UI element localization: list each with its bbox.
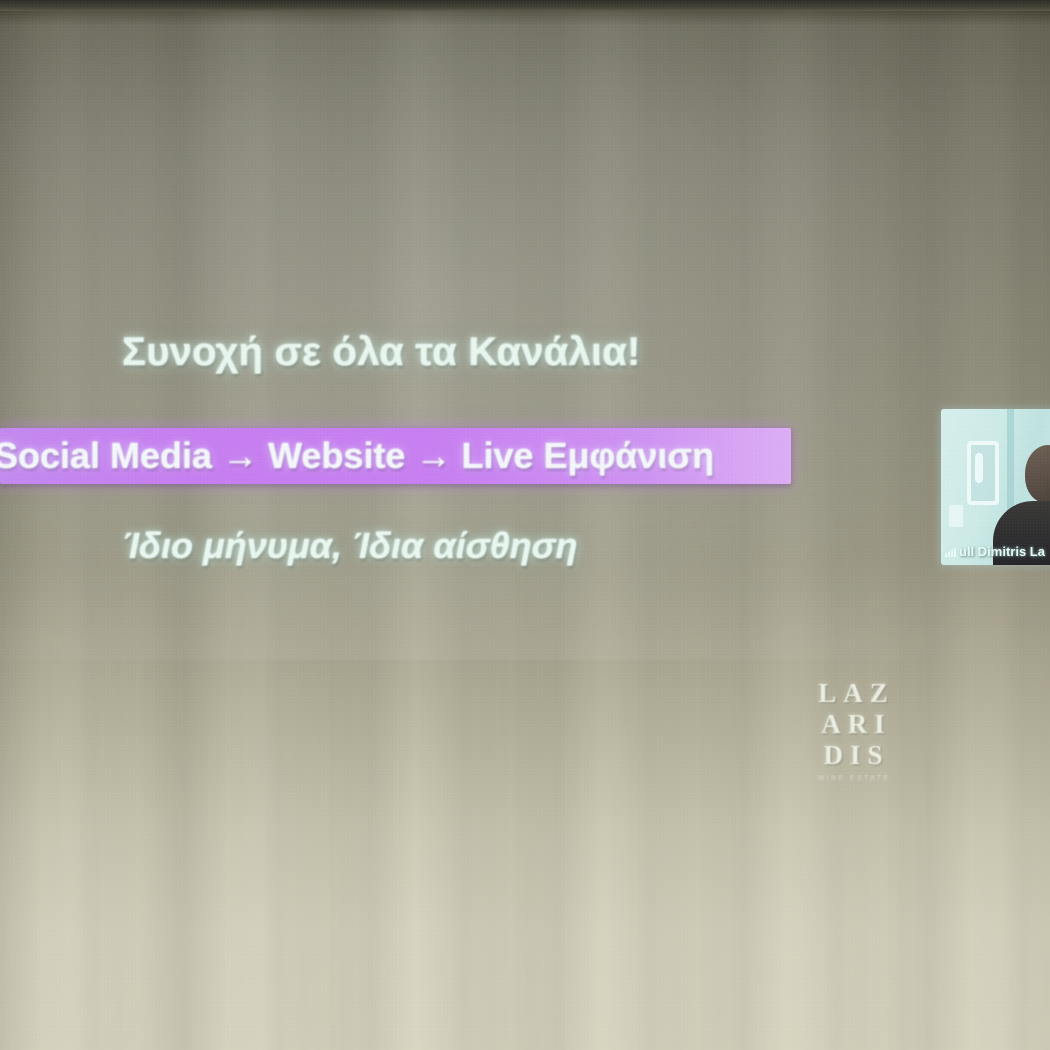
presentation-slide: Συνοχή σε όλα τα Κανάλια! Social Media →… bbox=[0, 0, 1050, 660]
speaker-name-caption: ull Dimitris La bbox=[941, 544, 1050, 559]
brand-logo-line-1: LAZ bbox=[808, 678, 905, 709]
video-wall-poster bbox=[967, 441, 999, 505]
funnel-steps-text: Social Media → Website → Live Εμφάνιση bbox=[0, 435, 714, 477]
signal-bars-icon bbox=[945, 548, 956, 557]
slide-title: Συνοχή σε όλα τα Κανάλια! bbox=[122, 330, 762, 375]
projected-slide-screenshot: Συνοχή σε όλα τα Κανάλια! Social Media →… bbox=[0, 0, 1050, 1050]
slide-subtitle: Ίδιο μήνυμα, Ίδια αίσθηση bbox=[122, 525, 762, 567]
brand-logo-line-3: DIS bbox=[808, 740, 905, 771]
speaker-video-tile[interactable]: ull Dimitris La bbox=[941, 409, 1050, 565]
brand-tagline: WINE ESTATE bbox=[803, 775, 905, 782]
brand-logo-line-2: ARI bbox=[808, 709, 905, 740]
speaker-name-text: ull Dimitris La bbox=[959, 544, 1045, 559]
brand-logo: LAZ ARI DIS WINE ESTATE bbox=[803, 678, 905, 782]
video-lamp bbox=[949, 505, 963, 527]
highlighted-funnel-bar: Social Media → Website → Live Εμφάνιση bbox=[0, 428, 791, 484]
